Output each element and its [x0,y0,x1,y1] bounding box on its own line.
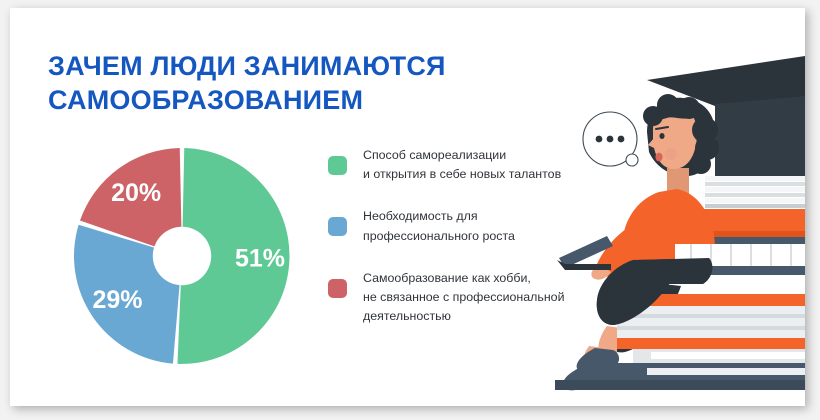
illustration-svg [555,8,805,406]
donut-chart-svg: 51%29%20% [62,136,302,376]
donut-chart: 51%29%20% [62,136,302,376]
book-orange-1-edge [700,231,805,237]
legend-label-hobby: Самообразование как хобби, не связанное … [363,269,565,327]
legend-swatch-green [328,156,347,175]
page-title: ЗАЧЕМ ЛЮДИ ЗАНИМАЮТСЯ САМООБРАЗОВАНИЕМ [48,50,518,118]
screenshot-stage: ЗАЧЕМ ЛЮДИ ЗАНИМАЮТСЯ САМООБРАЗОВАНИЕМ 5… [0,0,820,420]
page-title-line-1: ЗАЧЕМ ЛЮДИ ЗАНИМАЮТСЯ [48,51,446,81]
donut-slice-label: 51% [235,245,285,273]
donut-slice-label: 29% [92,286,142,314]
legend-swatch-red [328,279,347,298]
page-title-line-2: САМООБРАЗОВАНИЕМ [48,84,518,118]
infographic-card: ЗАЧЕМ ЛЮДИ ЗАНИМАЮТСЯ САМООБРАЗОВАНИЕМ 5… [10,8,805,406]
legend-swatch-blue [328,217,347,236]
donut-slice-label: 20% [111,179,161,207]
legend-label-self-realization: Способ самореализации и открытия в себе … [363,146,561,184]
book-orange-1 [700,209,805,231]
thought-bubble-icon [583,112,638,166]
illustration [555,8,805,406]
book-stack-top [705,176,805,208]
donut-center-hole [153,227,211,285]
legend-label-professional-growth: Необходимость для профессионального рост… [363,207,515,245]
